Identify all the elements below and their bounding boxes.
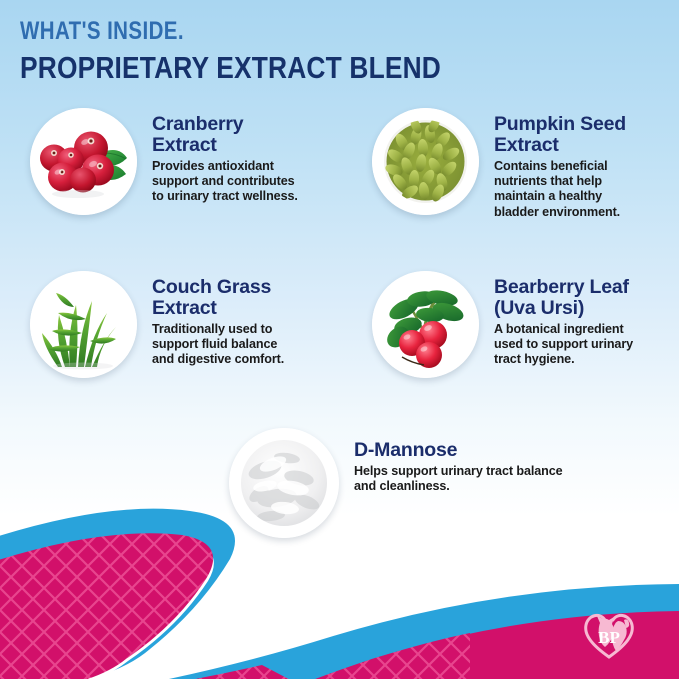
pumpkin-seed-thumbnail	[372, 108, 479, 215]
ingredient-cranberry-extract: Cranberry Extract Provides antioxidant s…	[30, 108, 298, 215]
ingredient-description: Traditionally used to support fluid bala…	[152, 322, 284, 368]
page-title: PROPRIETARY EXTRACT BLEND	[20, 51, 547, 85]
couch-grass-text: Couch Grass Extract Traditionally used t…	[152, 271, 284, 368]
ingredient-pumpkin-seed-extract: Pumpkin Seed Extract Contains beneficial…	[372, 108, 626, 220]
cranberry-text: Cranberry Extract Provides antioxidant s…	[152, 108, 298, 205]
cranberry-berries-image	[30, 108, 137, 215]
kicker-text: WHAT'S INSIDE.	[20, 18, 528, 45]
ingredient-description: Provides antioxidant support and contrib…	[152, 159, 298, 205]
bearberry-text: Bearberry Leaf (Uva Ursi) A botanical in…	[494, 271, 633, 368]
bearberry-leaf-image	[372, 271, 479, 378]
cranberry-thumbnail	[30, 108, 137, 215]
ingredient-title: D-Mannose	[354, 440, 563, 461]
pumpkin-seeds-image	[372, 108, 479, 215]
magenta-pattern-left	[0, 533, 213, 679]
header: WHAT'S INSIDE. PROPRIETARY EXTRACT BLEND	[20, 18, 640, 85]
ingredient-title: Couch Grass Extract	[152, 277, 284, 319]
ingredient-title: Pumpkin Seed Extract	[494, 114, 626, 156]
bearberry-thumbnail	[372, 271, 479, 378]
infographic-page: WHAT'S INSIDE. PROPRIETARY EXTRACT BLEND	[0, 0, 679, 679]
d-mannose-text: D-Mannose Helps support urinary tract ba…	[354, 428, 563, 494]
ingredient-title: Cranberry Extract	[152, 114, 298, 156]
logo-monogram: BP	[598, 628, 620, 647]
ingredient-description: Contains beneficial nutrients that help …	[494, 159, 626, 220]
couch-grass-thumbnail	[30, 271, 137, 378]
ingredient-couch-grass-extract: Couch Grass Extract Traditionally used t…	[30, 271, 284, 378]
ingredient-bearberry-leaf: Bearberry Leaf (Uva Ursi) A botanical in…	[372, 271, 633, 378]
ingredient-title: Bearberry Leaf (Uva Ursi)	[494, 277, 633, 319]
ingredient-description: A botanical ingredient used to support u…	[494, 322, 633, 368]
couch-grass-image	[30, 271, 137, 378]
pumpkin-seed-text: Pumpkin Seed Extract Contains beneficial…	[494, 108, 626, 220]
bp-cat-dog-heart-logo: BP	[578, 603, 640, 665]
